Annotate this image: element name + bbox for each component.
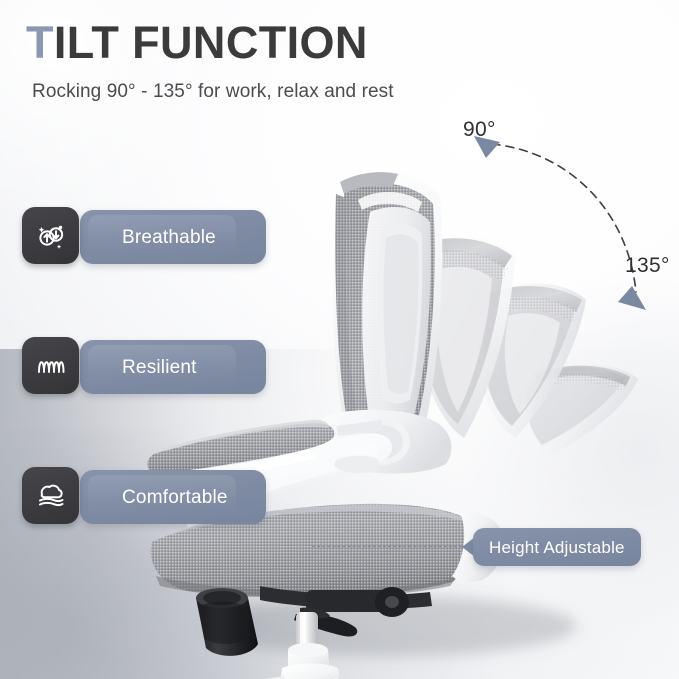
heading-block: TILT FUNCTION Rocking 90° - 135° for wor… xyxy=(26,18,546,104)
backrest-main xyxy=(333,171,443,445)
callout-label: Height Adjustable xyxy=(489,539,625,556)
feature-label: Breathable xyxy=(122,228,216,247)
callout-body: Height Adjustable xyxy=(473,528,641,566)
callout-leader-line xyxy=(312,546,467,547)
title-lead-letter: T xyxy=(26,17,54,68)
feature-label: Comfortable xyxy=(122,488,228,507)
product-infographic-poster: TILT FUNCTION Rocking 90° - 135° for wor… xyxy=(0,0,679,679)
chair-illustration xyxy=(130,120,679,679)
title-rest: ILT FUNCTION xyxy=(54,17,368,68)
five-star-base xyxy=(167,664,457,679)
feature-badge-breathable[interactable]: Breathable xyxy=(22,207,79,264)
spring-coil-icon xyxy=(22,337,79,394)
feature-badge-resilient[interactable]: Resilient xyxy=(22,337,79,394)
cushion-cloud-icon xyxy=(22,467,79,524)
airflow-circulation-icon xyxy=(22,207,79,264)
feature-label: Resilient xyxy=(122,358,197,377)
angle-label-min: 90° xyxy=(463,119,496,140)
feature-pill: Breathable xyxy=(80,210,266,264)
page-title: TILT FUNCTION xyxy=(26,18,546,68)
feature-pill: Comfortable xyxy=(80,470,266,524)
angle-label-max: 135° xyxy=(625,255,670,276)
feature-pill: Resilient xyxy=(80,340,266,394)
height-adjustable-callout[interactable]: Height Adjustable xyxy=(462,528,641,566)
feature-badge-list: Breathable Resilient xyxy=(22,207,79,524)
arrowhead-135 xyxy=(618,286,646,310)
feature-badge-comfortable[interactable]: Comfortable xyxy=(22,467,79,524)
page-subtitle: Rocking 90° - 135° for work, relax and r… xyxy=(32,80,546,104)
